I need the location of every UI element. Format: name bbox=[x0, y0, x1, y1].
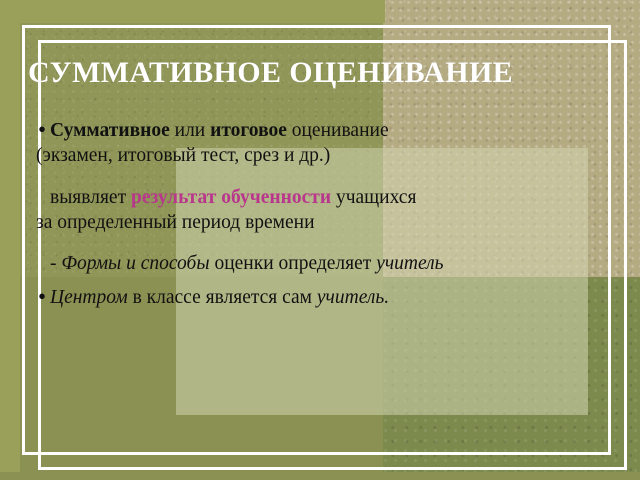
bullet-1-bold-1: Суммативное bbox=[50, 120, 170, 141]
bullet-3-text-1: оценки определяет bbox=[210, 253, 377, 274]
bullet-1-text-2: оценивание bbox=[287, 120, 389, 141]
frame-mask-left bbox=[0, 0, 20, 480]
bullet-4-italic-2: учитель. bbox=[317, 287, 389, 308]
frame-mask-bottom bbox=[0, 472, 640, 480]
bullet-item-2: выявляет результат обученности учащихся bbox=[36, 185, 588, 210]
bullet-3-italic-1: Формы и способы bbox=[61, 253, 209, 274]
bullet-marker-icon-2: • bbox=[38, 287, 46, 307]
slide: СУММАТИВНОЕ ОЦЕНИВАНИЕ • Суммативное или… bbox=[0, 0, 640, 480]
bullet-item-1: • Суммативное или итоговое оценивание bbox=[36, 118, 588, 143]
bullet-marker-icon: • bbox=[38, 120, 46, 140]
body-content: • Суммативное или итоговое оценивание (э… bbox=[36, 118, 588, 415]
bullet-2-accent: результат обученности bbox=[131, 187, 331, 208]
bullet-item-4: • Центром в классе является сам учитель. bbox=[36, 285, 588, 310]
bullet-item-3: - Формы и способы оценки определяет учит… bbox=[36, 251, 588, 276]
bullet-1-text-1: или bbox=[170, 120, 210, 141]
bullet-3-dash: - bbox=[50, 253, 61, 274]
bullet-3-italic-2: учитель bbox=[376, 253, 443, 274]
bullet-1-continuation-text: (экзамен, итоговый тест, срез и др.) bbox=[36, 145, 330, 166]
bullet-2-continuation-text: за определенный период времени bbox=[36, 212, 315, 233]
bullet-4-text-1: в классе является сам bbox=[128, 287, 317, 308]
bullet-2-text-1: выявляет bbox=[50, 187, 131, 208]
bullet-4-italic-1: Центром bbox=[50, 287, 128, 308]
frame-mask-top bbox=[0, 0, 385, 23]
bullet-item-1-continuation: (экзамен, итоговый тест, срез и др.) bbox=[36, 143, 588, 168]
page-title: СУММАТИВНОЕ ОЦЕНИВАНИЕ bbox=[28, 56, 628, 90]
bullet-item-2-continuation: за определенный период времени bbox=[36, 210, 588, 235]
bullet-1-bold-2: итоговое bbox=[210, 120, 287, 141]
bullet-2-text-2: учащихся bbox=[331, 187, 416, 208]
